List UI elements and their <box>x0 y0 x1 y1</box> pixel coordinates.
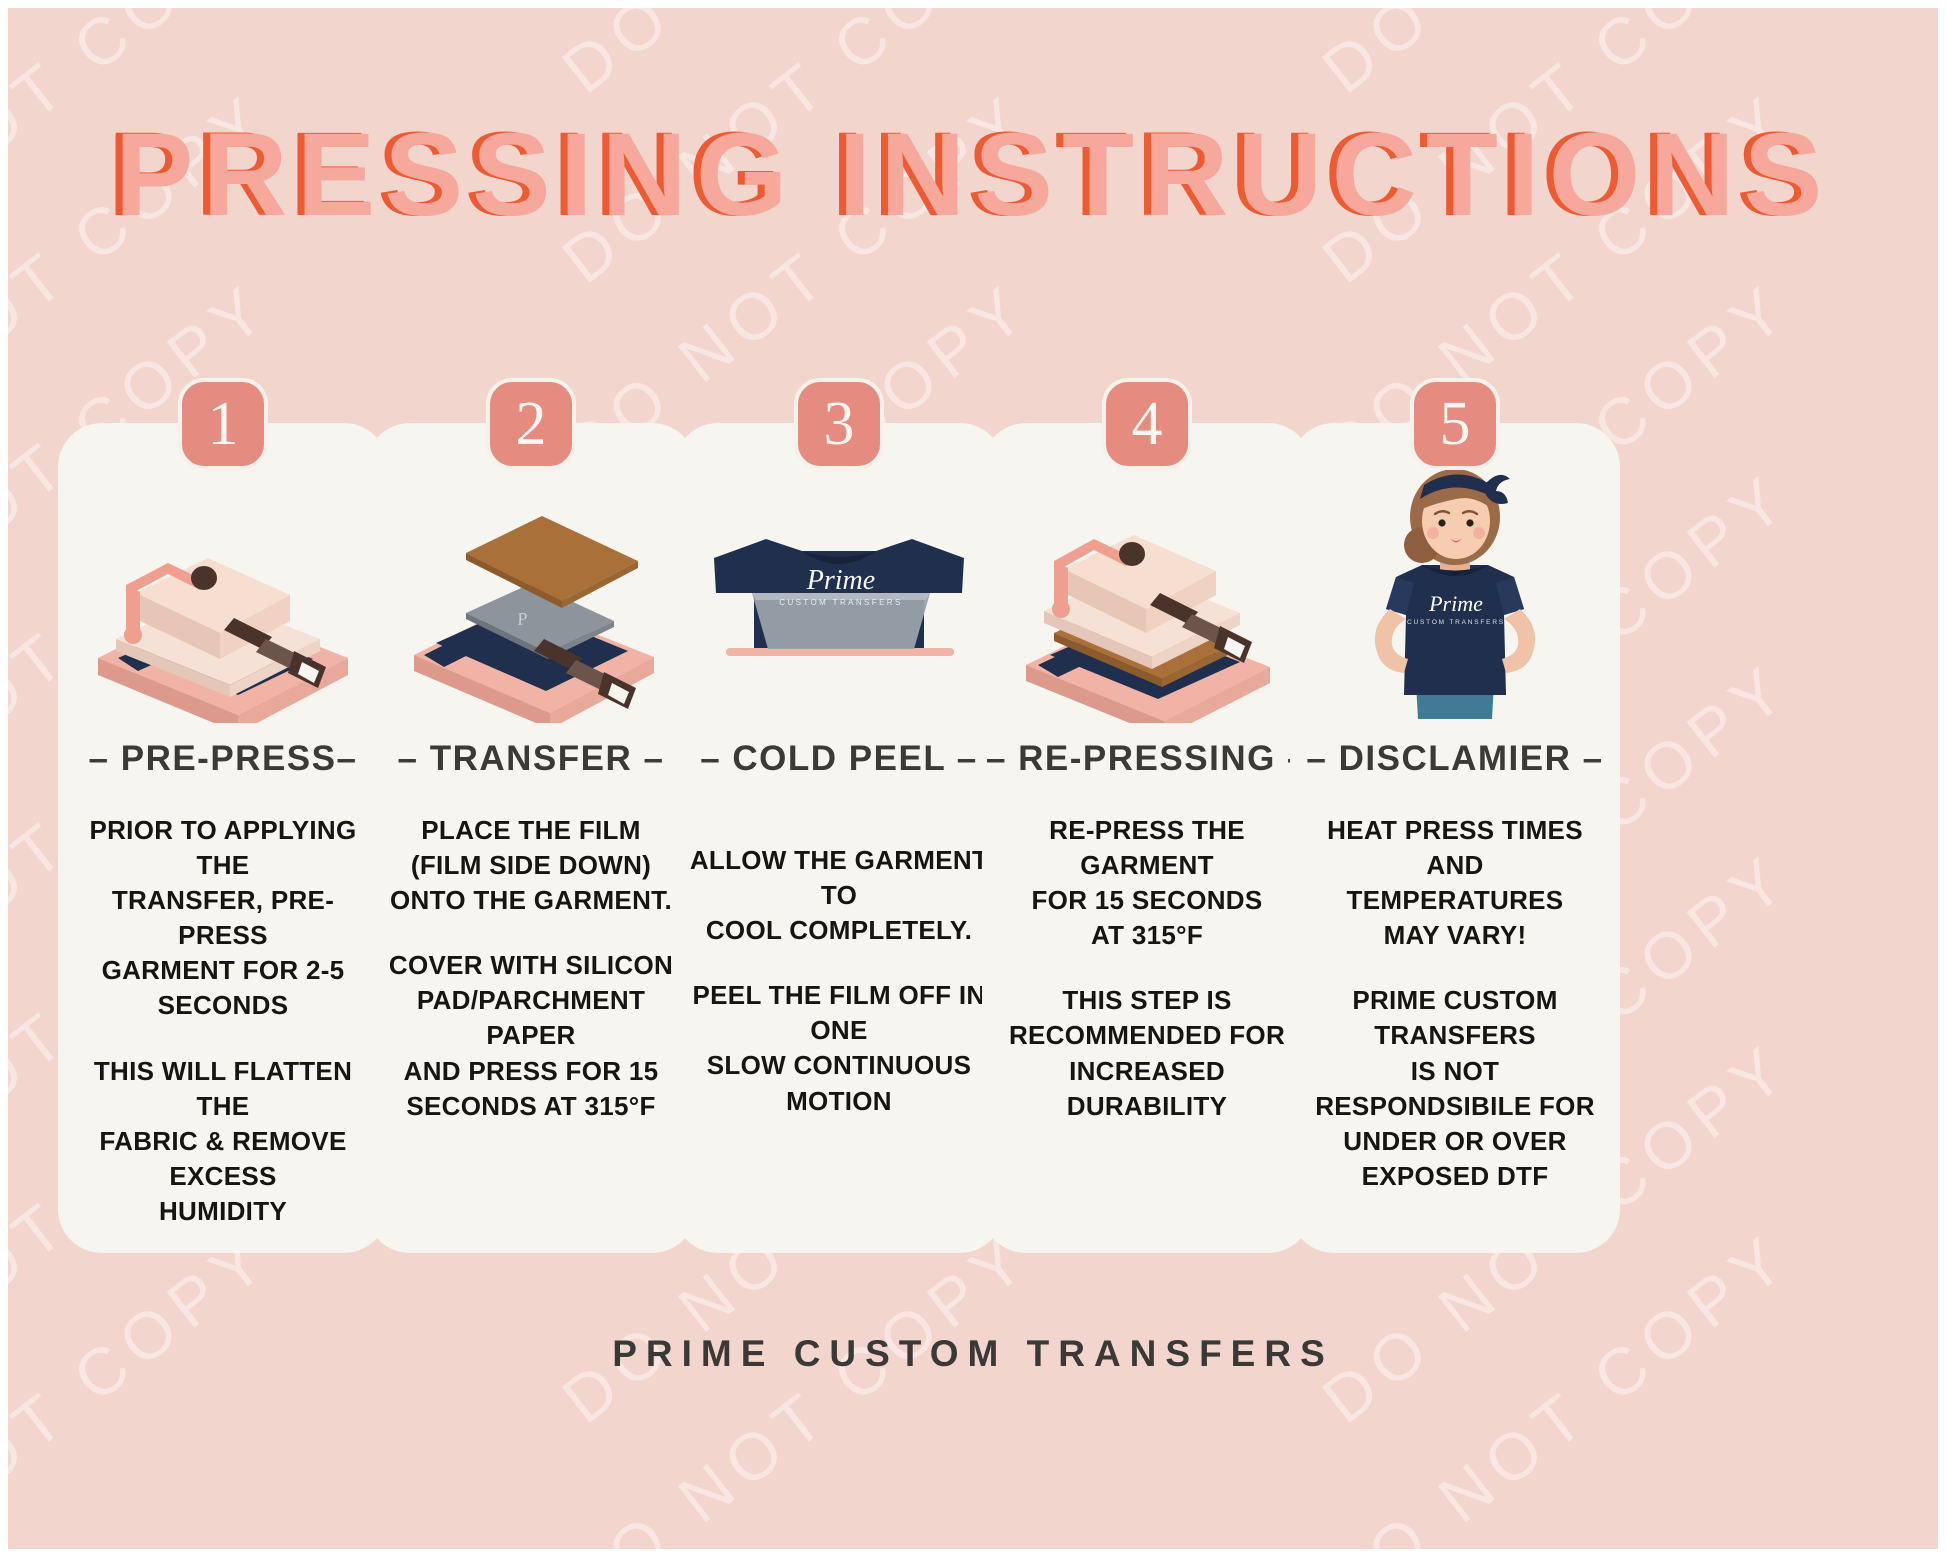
step-card-5-body: HEAT PRESS TIMES AND TEMPERATURES MAY VA… <box>1300 813 1610 1194</box>
step-card-2-heading: – TRANSFER – <box>366 739 696 779</box>
poster-canvas: DO NOT COPYDO NOT COPYDO NOT COPYDO NOT … <box>8 8 1938 1549</box>
tshirt-film-peel-icon: Prime CUSTOM TRANSFERS <box>674 443 1004 723</box>
svg-text:CUSTOM TRANSFERS: CUSTOM TRANSFERS <box>779 598 902 607</box>
step-badge-2: 2 <box>486 378 576 470</box>
step-card-2-paragraph-1: PLACE THE FILM (FILM SIDE DOWN) ONTO THE… <box>376 813 686 918</box>
step-card-3-heading: – COLD PEEL – <box>674 739 1004 779</box>
step-card-4-heading: – RE-PRESSING – <box>982 739 1312 779</box>
step-card-3[interactable]: Prime CUSTOM TRANSFERS – COLD PEEL – ALL… <box>674 423 1004 1253</box>
step-card-3-inner: Prime CUSTOM TRANSFERS – COLD PEEL – ALL… <box>674 423 1004 1253</box>
step-card-3-body: ALLOW THE GARMENT TO COOL COMPLETELY. PE… <box>684 843 994 1119</box>
brand-footer: PRIME CUSTOM TRANSFERS <box>8 1333 1938 1375</box>
step-card-1[interactable]: – PRE-PRESS– PRIOR TO APPLYING THE TRANS… <box>58 423 388 1253</box>
step-card-4-inner: – RE-PRESSING – RE-PRESS THE GARMENT FOR… <box>982 423 1312 1253</box>
heat-press-repress-icon <box>982 443 1312 723</box>
step-card-2[interactable]: P – TRANSFER – PLACE THE FILM (FILM SIDE… <box>366 423 696 1253</box>
step-badge-3: 3 <box>794 378 884 470</box>
transfer-layers-icon: P <box>366 443 696 723</box>
step-card-4[interactable]: – RE-PRESSING – RE-PRESS THE GARMENT FOR… <box>982 423 1312 1253</box>
step-card-1-heading: – PRE-PRESS– <box>58 739 388 779</box>
step-card-1-body: PRIOR TO APPLYING THE TRANSFER, PRE-PRES… <box>68 813 378 1229</box>
step-card-4-body: RE-PRESS THE GARMENT FOR 15 SECONDS AT 3… <box>992 813 1302 1124</box>
step-card-5[interactable]: Prime CUSTOM TRANSFERS – DISCLAMIER – HE… <box>1290 423 1620 1253</box>
step-card-5-paragraph-1: HEAT PRESS TIMES AND TEMPERATURES MAY VA… <box>1300 813 1610 953</box>
svg-text:CUSTOM TRANSFERS: CUSTOM TRANSFERS <box>1407 619 1505 626</box>
step-badge-4: 4 <box>1102 378 1192 470</box>
step-card-3-paragraph-1: ALLOW THE GARMENT TO COOL COMPLETELY. <box>684 843 994 948</box>
steps-container: – PRE-PRESS– PRIOR TO APPLYING THE TRANS… <box>8 8 1938 1549</box>
step-card-2-inner: P – TRANSFER – PLACE THE FILM (FILM SIDE… <box>366 423 696 1253</box>
step-card-4-paragraph-2: THIS STEP IS RECOMMENDED FOR INCREASED D… <box>992 983 1302 1123</box>
step-card-3-paragraph-2: PEEL THE FILM OFF IN ONE SLOW CONTINUOUS… <box>684 978 994 1118</box>
step-card-4-paragraph-1: RE-PRESS THE GARMENT FOR 15 SECONDS AT 3… <box>992 813 1302 953</box>
step-card-1-paragraph-1: PRIOR TO APPLYING THE TRANSFER, PRE-PRES… <box>68 813 378 1024</box>
svg-text:Prime: Prime <box>1428 591 1483 616</box>
svg-text:Prime: Prime <box>806 565 875 596</box>
step-badge-1: 1 <box>178 378 268 470</box>
step-card-1-inner: – PRE-PRESS– PRIOR TO APPLYING THE TRANS… <box>58 423 388 1253</box>
step-card-1-paragraph-2: THIS WILL FLATTEN THE FABRIC & REMOVE EX… <box>68 1054 378 1229</box>
step-card-2-paragraph-2: COVER WITH SILICON PAD/PARCHMENT PAPER A… <box>376 948 686 1123</box>
woman-wearing-shirt-icon: Prime CUSTOM TRANSFERS <box>1290 443 1620 723</box>
step-card-2-body: PLACE THE FILM (FILM SIDE DOWN) ONTO THE… <box>376 813 686 1124</box>
step-card-5-heading: – DISCLAMIER – <box>1290 739 1620 779</box>
step-badge-5: 5 <box>1410 378 1500 470</box>
heat-press-closed-icon <box>58 443 388 723</box>
step-card-5-paragraph-2: PRIME CUSTOM TRANSFERS IS NOT RESPONDSIB… <box>1300 983 1610 1194</box>
step-card-5-inner: Prime CUSTOM TRANSFERS – DISCLAMIER – HE… <box>1290 423 1620 1253</box>
